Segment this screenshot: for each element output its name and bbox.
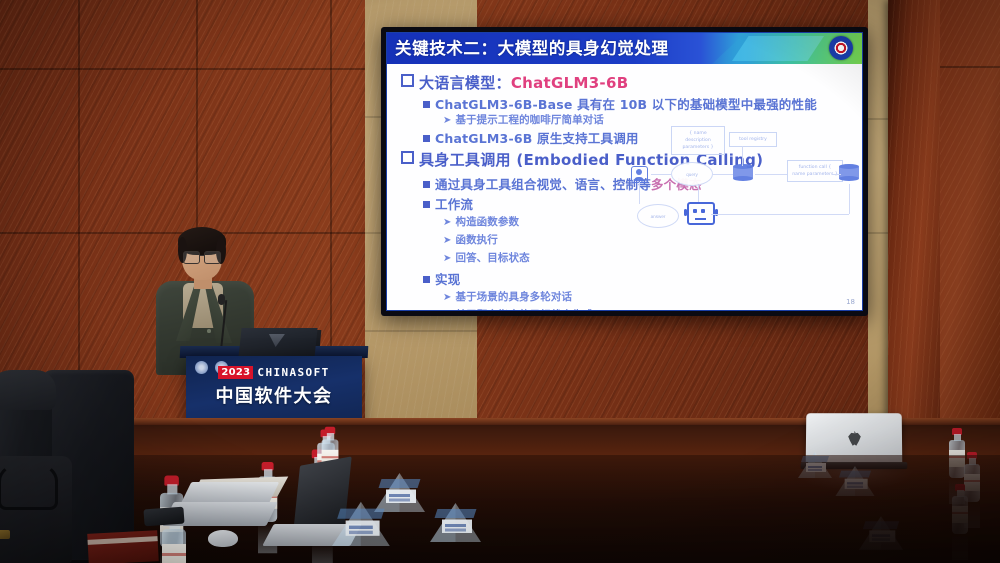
bullet-text: 函数执行	[455, 234, 497, 246]
open-laptop[interactable]	[168, 488, 278, 534]
diagram-node-database-1	[733, 164, 753, 181]
bullet-text: 基于顾客指令的目标状态生成	[455, 309, 593, 311]
slide-title-bar: 关键技术二：大模型的具身幻觉处理	[387, 33, 862, 64]
bullet-level2: ChatGLM3-6B-Base 具有在 10B 以下的基础模型中最强的性能	[423, 94, 817, 113]
bullet-text: 基于场景的具身多轮对话	[455, 291, 572, 303]
bullet-level1: 大语言模型：ChatGLM3-6B	[401, 72, 628, 93]
display-screen-content: 关键技术二：大模型的具身幻觉处理 大语言模型：ChatGLM3-6B ChatG…	[386, 32, 863, 311]
square-filled-icon	[423, 181, 430, 188]
square-outline-icon	[401, 151, 414, 164]
square-filled-icon	[423, 135, 430, 142]
arrow-bullet-icon: ➤	[443, 217, 451, 228]
slide-number: 18	[846, 298, 855, 306]
bullet-text: 通过具身工具组合视觉、语言、控制等	[435, 177, 651, 192]
diagram-node-function-call: function call { name parameters }	[787, 160, 843, 182]
diagram-connector	[711, 214, 849, 215]
name-card-holder	[332, 502, 390, 546]
chair-headrest	[0, 370, 56, 410]
brand-cn: 中国软件大会	[186, 382, 362, 408]
slide-body: 大语言模型：ChatGLM3-6B ChatGLM3-6B-Base 具有在 1…	[387, 64, 862, 310]
bullet-text: 大语言模型：	[419, 74, 511, 92]
bullet-text: ChatGLM3-6B-Base 具有在 10B 以下的基础模型中最强的性能	[435, 97, 817, 112]
brand-en: CHINASOFT	[257, 366, 329, 379]
diagram-node-schema: { name description parameters }	[671, 126, 725, 155]
arrow-bullet-icon: ➤	[443, 292, 451, 303]
eyeglasses-icon	[182, 251, 222, 262]
square-filled-icon	[423, 276, 430, 283]
bullet-level3: ➤构造函数参数	[443, 214, 519, 229]
diagram-connector	[651, 174, 671, 175]
wall-seam	[365, 330, 477, 332]
wall-seam	[78, 0, 80, 420]
bullet-level3: ➤基于场景的具身多轮对话	[443, 289, 572, 304]
jacket-button	[207, 329, 211, 333]
screenshot-root: 关键技术二：大模型的具身幻觉处理 大语言模型：ChatGLM3-6B ChatG…	[0, 0, 1000, 563]
bullet-text: 回答、目标状态	[455, 252, 529, 264]
bullet-level3: ➤回答、目标状态	[443, 250, 530, 265]
bullet-level2: 工作流	[423, 194, 473, 213]
slide-title: 关键技术二：大模型的具身幻觉处理	[395, 35, 669, 59]
wall-seam	[0, 68, 380, 70]
bullet-text: ChatGLM3-6B 原生支持工具调用	[435, 131, 639, 146]
arrow-bullet-icon: ➤	[443, 235, 451, 246]
phone-device[interactable]	[143, 507, 184, 527]
arrow-bullet-icon: ➤	[443, 253, 451, 264]
function-calling-flow-diagram: { name description parameters } tool reg…	[629, 126, 861, 236]
diagram-node-query: query	[671, 162, 713, 186]
wall-seam	[940, 66, 1000, 68]
lectern-laptop	[238, 328, 317, 358]
diagram-connector	[639, 182, 640, 204]
bullet-text: 基于提示工程的咖啡厅简单对话	[455, 114, 603, 126]
diagram-node-user-icon	[631, 166, 648, 183]
name-card-holder	[430, 503, 481, 542]
bullet-level3: ➤基于顾客指令的目标状态生成	[443, 307, 593, 311]
arrow-bullet-icon: ➤	[443, 310, 451, 311]
bullet-highlight: ChatGLM3-6B	[511, 74, 629, 92]
book-on-table	[87, 530, 159, 563]
arrow-bullet-icon: ➤	[443, 115, 451, 126]
diagram-connector	[698, 184, 699, 202]
diagram-connector	[713, 174, 733, 175]
bag-strap	[0, 462, 58, 510]
lectern-sign-row-en: 2023 CHINASOFT	[186, 366, 362, 379]
bullet-level2: ChatGLM3-6B 原生支持工具调用	[423, 128, 639, 147]
computer-mouse[interactable]	[208, 530, 238, 547]
lectern-sign: 2023 CHINASOFT 中国软件大会	[186, 366, 362, 408]
diagram-node-answer: answer	[637, 204, 679, 228]
bullet-text: 工作流	[435, 197, 473, 212]
microphone-head	[218, 294, 225, 305]
bullet-text: 实现	[435, 272, 460, 287]
wall-display[interactable]: 关键技术二：大模型的具身幻觉处理 大语言模型：ChatGLM3-6B ChatG…	[381, 27, 868, 316]
diagram-connector	[755, 174, 787, 175]
bullet-level3: ➤函数执行	[443, 232, 498, 247]
wall-pilaster	[888, 0, 948, 420]
diagram-connector	[742, 146, 743, 166]
square-filled-icon	[423, 101, 430, 108]
diagram-connector	[833, 174, 841, 175]
bullet-level3: ➤基于提示工程的咖啡厅简单对话	[443, 112, 604, 127]
wall-pilaster	[940, 0, 1000, 420]
year-badge: 2023	[218, 366, 253, 379]
diagram-connector	[849, 184, 850, 214]
university-emblem-icon	[829, 36, 853, 60]
diagram-node-database-2	[839, 164, 859, 181]
diagram-node-tool-registry: tool registry	[729, 132, 777, 147]
bullet-level2: 实现	[423, 269, 460, 288]
bullet-text: 构造函数参数	[455, 216, 519, 228]
square-filled-icon	[423, 201, 430, 208]
bag-hardware	[0, 530, 10, 539]
apple-logo-icon	[847, 431, 862, 447]
square-outline-icon	[401, 74, 414, 87]
